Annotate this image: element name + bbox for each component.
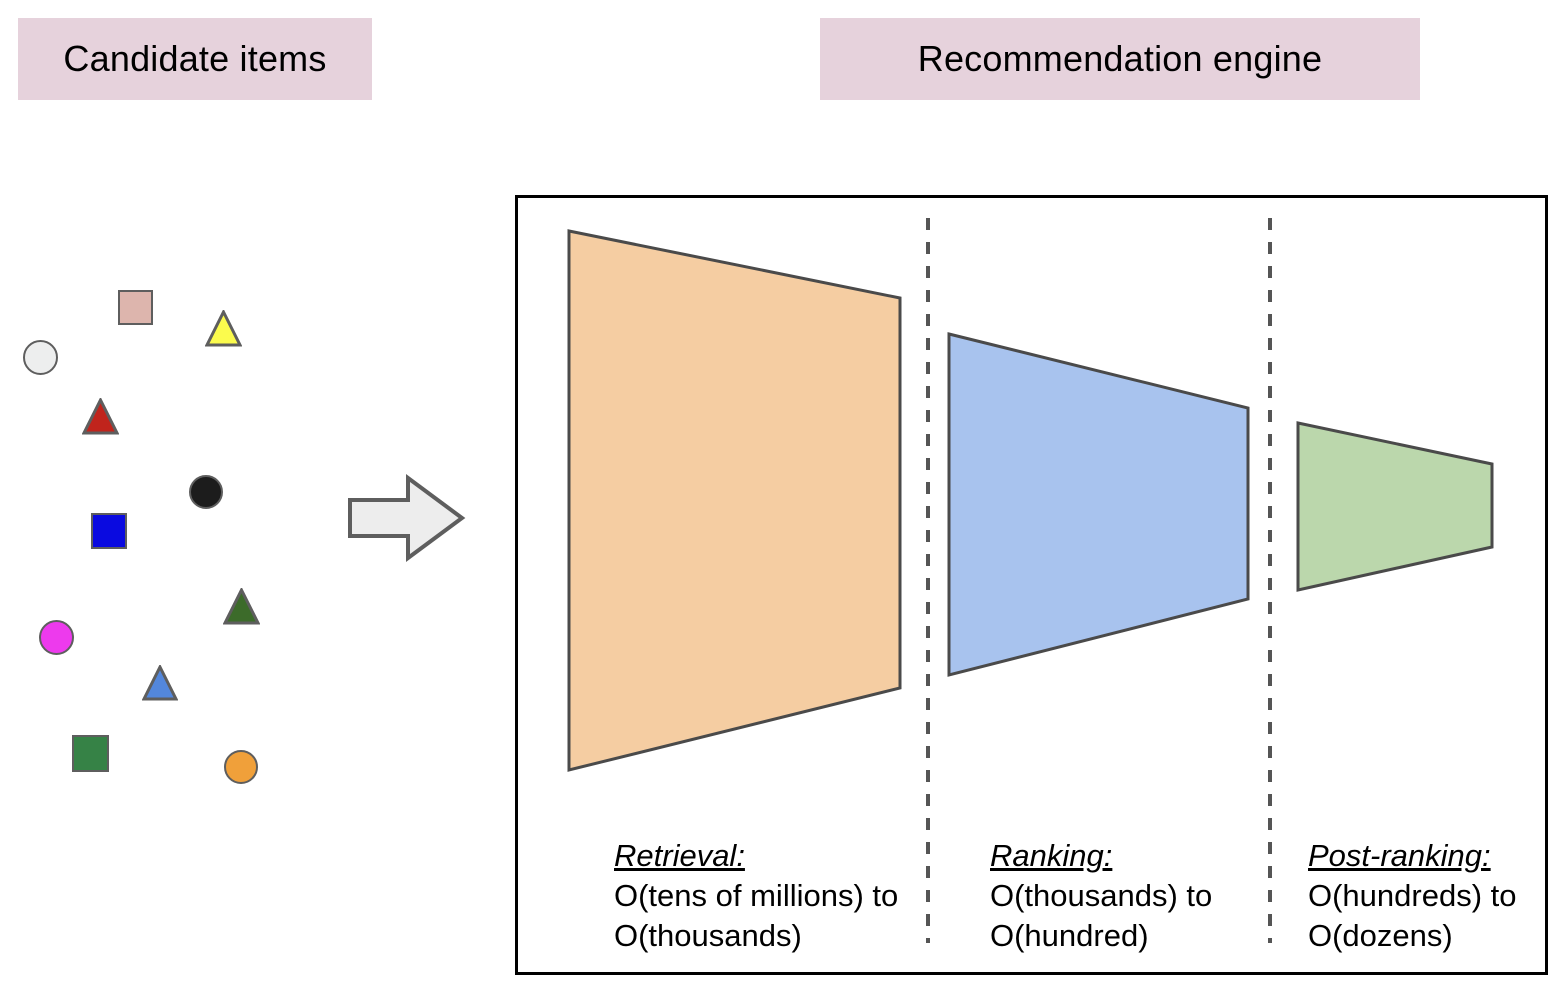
- stage-line1-ranking: O(thousands) to: [990, 876, 1212, 916]
- green-square: [72, 735, 109, 772]
- funnel-stage-retrieval: [569, 231, 900, 770]
- funnel-stage-ranking: [949, 334, 1248, 675]
- yellow-triangle: [205, 310, 242, 347]
- dark-green-triangle: [223, 588, 260, 625]
- stage-line2-ranking: O(hundred): [990, 916, 1212, 956]
- dark-green-triangle-svg: [223, 588, 260, 625]
- stage-title-postranking: Post-ranking:: [1308, 836, 1517, 876]
- stage-title-retrieval: Retrieval:: [614, 836, 898, 876]
- yellow-triangle-svg: [205, 310, 242, 347]
- candidate-items-header-chip: Candidate items: [18, 18, 372, 100]
- red-triangle-svg: [82, 398, 119, 435]
- recommendation-engine-box: Retrieval: O(tens of millions) to O(thou…: [515, 195, 1548, 975]
- stage-line2-postranking: O(dozens): [1308, 916, 1517, 956]
- recommendation-engine-header-label: Recommendation engine: [918, 41, 1322, 77]
- pink-square: [118, 290, 153, 325]
- flow-arrow-right-icon: [346, 468, 466, 568]
- white-circle: [23, 340, 58, 375]
- candidate-items-scatter: [0, 260, 330, 820]
- magenta-circle: [39, 620, 74, 655]
- blue-triangle: [142, 665, 178, 701]
- funnel-stage-postranking: [1298, 423, 1492, 590]
- stage-caption-retrieval: Retrieval: O(tens of millions) to O(thou…: [614, 836, 898, 956]
- stage-title-ranking: Ranking:: [990, 836, 1212, 876]
- orange-circle: [224, 750, 258, 784]
- stage-line2-retrieval: O(thousands): [614, 916, 898, 956]
- stage-line1-postranking: O(hundreds) to: [1308, 876, 1517, 916]
- blue-triangle-svg: [142, 665, 178, 701]
- recommendation-engine-header-chip: Recommendation engine: [820, 18, 1420, 100]
- candidate-items-header-label: Candidate items: [63, 41, 326, 77]
- stage-line1-retrieval: O(tens of millions) to: [614, 876, 898, 916]
- flow-arrow-svg: [346, 468, 466, 568]
- stage-caption-postranking: Post-ranking: O(hundreds) to O(dozens): [1308, 836, 1517, 956]
- black-circle: [189, 475, 223, 509]
- blue-square: [91, 513, 127, 549]
- red-triangle: [82, 398, 119, 435]
- stage-caption-ranking: Ranking: O(thousands) to O(hundred): [990, 836, 1212, 956]
